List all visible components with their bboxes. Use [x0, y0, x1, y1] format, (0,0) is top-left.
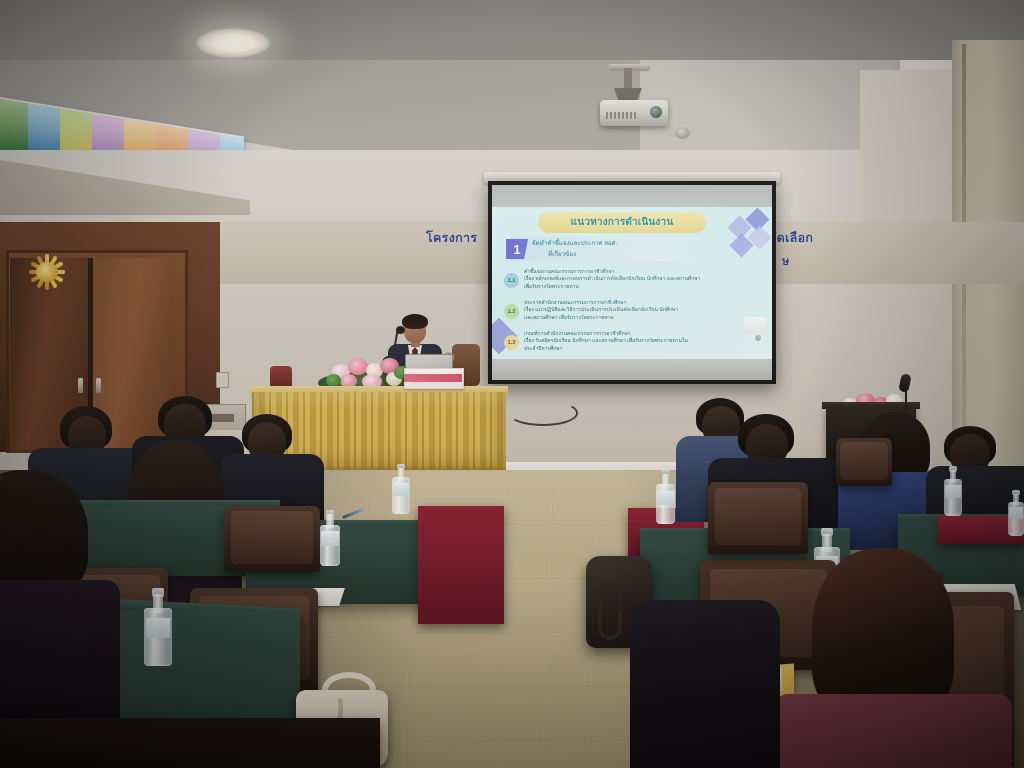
slide-logo-dot	[755, 335, 761, 341]
slide-bullet-1-number: 1.1	[504, 273, 519, 288]
sun-core	[36, 262, 58, 282]
slide-heading-line-1: จัดทำคำชี้แจงและประกาศ สอศ.	[532, 238, 617, 248]
table-name-card-band	[404, 374, 462, 382]
downlight-fixture	[196, 28, 270, 58]
slide-letterbox-bottom: · · · · ·	[492, 359, 772, 380]
banner-text-left: โครงการ	[426, 228, 477, 248]
slide-bullet-1-text: คำชี้แจงงานคณะกรรมการการอาชีวศึกษา เรื่อ…	[524, 269, 720, 291]
water-bottle[interactable]	[944, 466, 962, 516]
slide-title-pill: แนวทางการดำเนินงาน	[538, 212, 706, 233]
slide-bullet-3-number: 1.3	[504, 335, 519, 350]
slide-bullet-2-line-2: เรื่อง แนวปฏิบัติและวิธีการประเมินการประ…	[524, 307, 720, 314]
slide-bullet-2-number: 1.2	[504, 304, 519, 319]
door-handle-left[interactable]	[78, 378, 83, 393]
slide-title: แนวทางการดำเนินงาน	[571, 215, 674, 230]
slide-bullet-2-text: ประกาศสำนักงานคณะกรรมการการอาชีวศึกษา เร…	[524, 300, 720, 322]
chair[interactable]	[708, 482, 808, 554]
golden-sun-ornament-icon	[26, 252, 68, 292]
foreground-shadow	[0, 718, 380, 768]
microphone-icon	[396, 326, 405, 334]
slide-letterbox-top	[492, 185, 772, 207]
door-handle-right[interactable]	[96, 378, 101, 393]
banner-text-right-2: ษ	[782, 252, 790, 270]
chair[interactable]	[836, 438, 892, 486]
av-cable	[508, 400, 578, 426]
slide-bullet-3-line-3: ประจำปีการศึกษา	[524, 346, 720, 353]
slide-bullet-1-line-3: เพื่อรับรางวัลพระราชทาน	[524, 284, 720, 291]
backpack-strap	[598, 582, 622, 640]
water-bottle[interactable]	[320, 510, 340, 566]
conference-room-photo: โครงการ ป คัดเลือก ษ	[0, 0, 1024, 768]
water-bottle[interactable]	[656, 470, 675, 524]
slide-footer: · · · · ·	[584, 372, 614, 377]
slide-bullet-3-text: เกณฑ์การสำนักงานคณะกรรมการการอาชีวศึกษา …	[524, 331, 720, 353]
projection-screen: แนวทางการดำเนินงาน 1 จัดทำคำชี้แจงและประ…	[488, 181, 776, 384]
chair[interactable]	[224, 506, 320, 572]
presentation-slide: แนวทางการดำเนินงาน 1 จัดทำคำชี้แจงและประ…	[492, 207, 772, 359]
projector-vent	[606, 112, 636, 119]
slide-bullet-1-line-2: เรื่อง หลักเกณฑ์และกรอบการดำเนินการคัดเล…	[524, 276, 720, 283]
ceiling-soffit	[0, 0, 1024, 60]
slide-logo	[744, 317, 766, 335]
water-bottle[interactable]	[144, 588, 172, 666]
fire-sprinkler-icon	[676, 128, 689, 137]
slide-bullet-3-line-2: เรื่อง รับสมัครนักเรียน นักศึกษา และสถาน…	[524, 338, 720, 345]
slide-bullet-2-line-3: และสถานศึกษา เพื่อรับรางวัลพระราชทาน	[524, 315, 720, 322]
screen-surface: แนวทางการดำเนินงาน 1 จัดทำคำชี้แจงและประ…	[492, 185, 772, 380]
projector-lens	[650, 106, 662, 118]
presenter-hair	[402, 314, 428, 329]
water-bottle[interactable]	[392, 464, 410, 514]
audience-table-red	[418, 506, 504, 624]
light-switch[interactable]	[216, 372, 229, 388]
water-bottle[interactable]	[1008, 490, 1024, 536]
slide-heading-line-2: ที่เกี่ยวข้อง	[548, 249, 576, 259]
